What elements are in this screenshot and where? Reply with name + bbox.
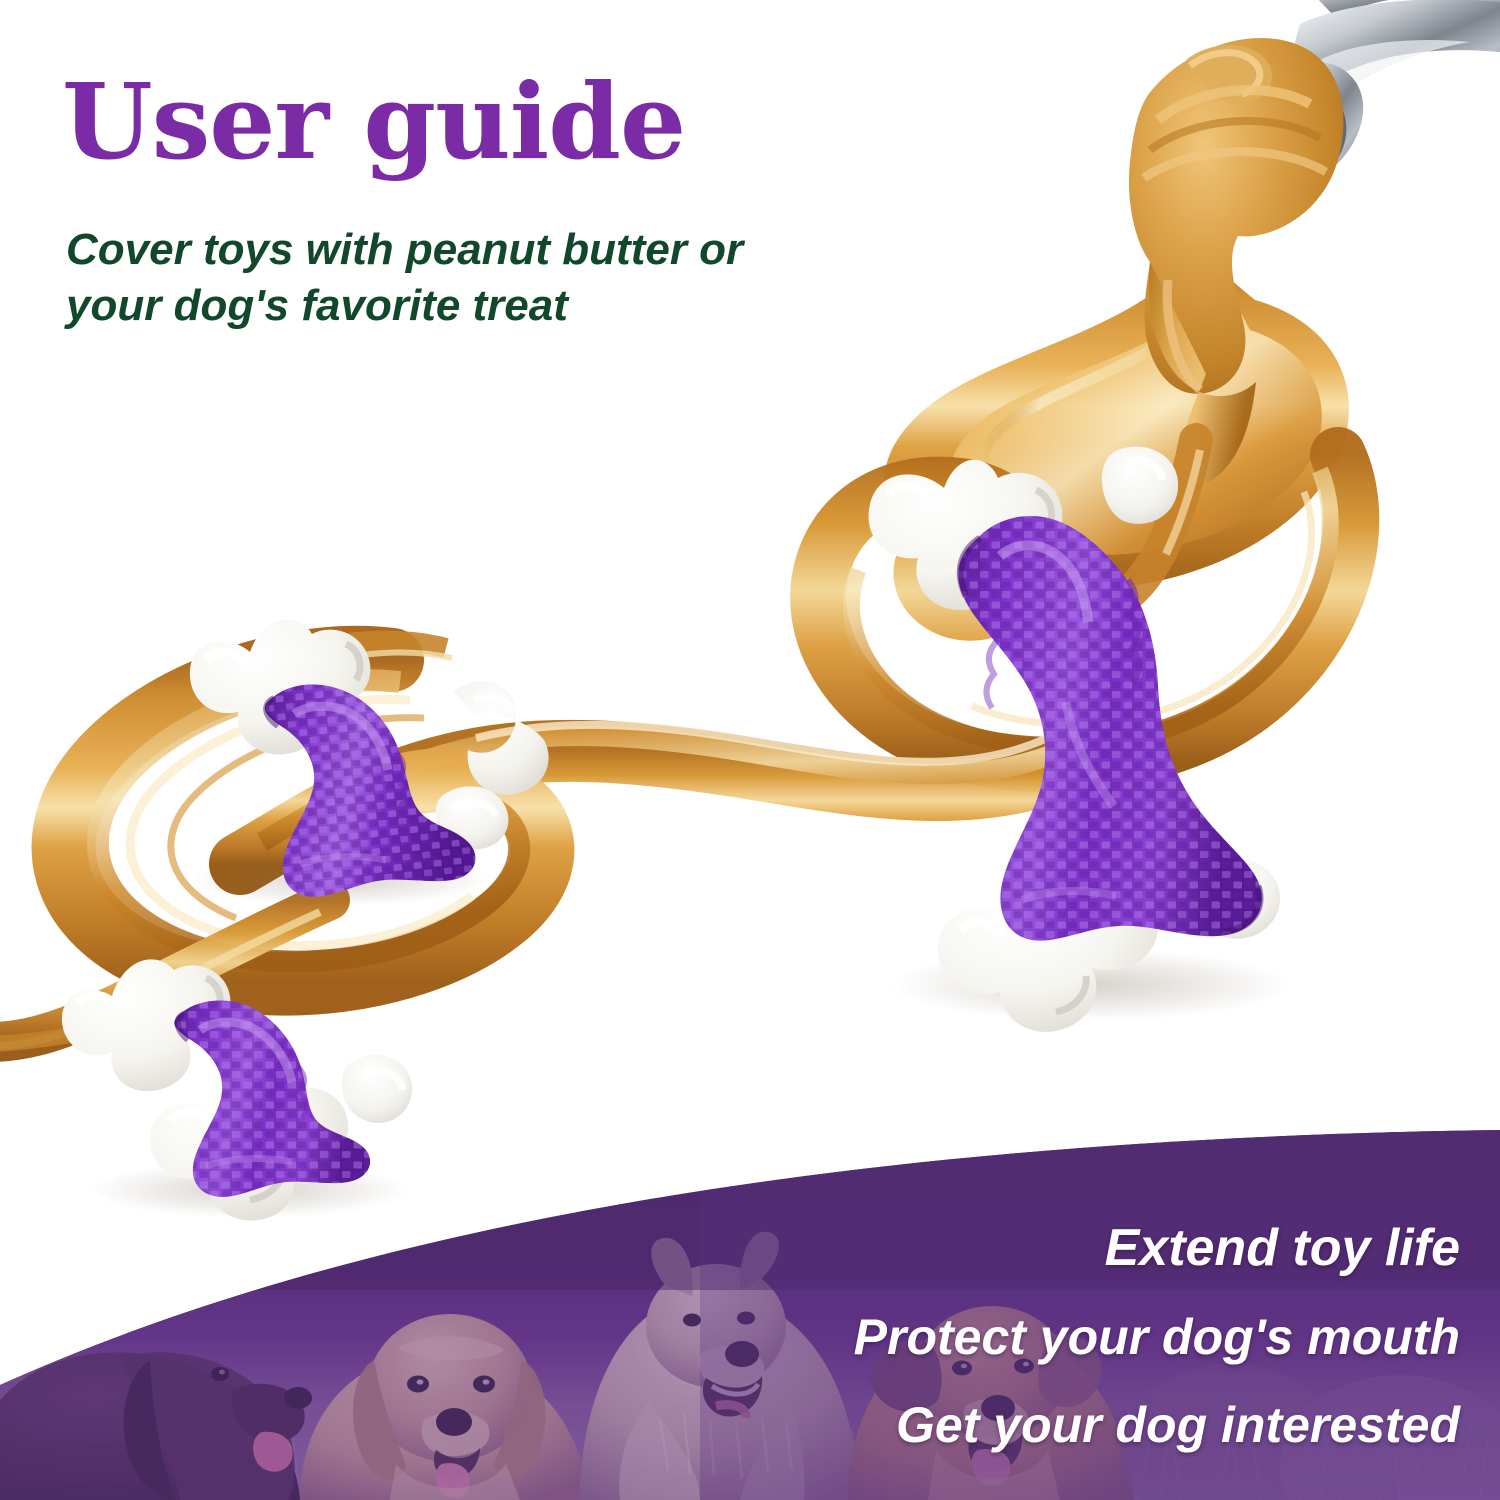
benefit-line-3: Get your dog interested [760, 1400, 1460, 1450]
benefit-line-1: Extend toy life [760, 1222, 1460, 1274]
page-subtitle: Cover toys with peanut butter or your do… [66, 222, 926, 335]
benefit-line-2: Protect your dog's mouth [760, 1312, 1460, 1362]
benefits-list: Extend toy life Protect your dog's mouth… [760, 1222, 1460, 1450]
infographic-page: User guide Cover toys with peanut butter… [0, 0, 1500, 1500]
subtitle-line-1: Cover toys with peanut butter or [66, 222, 926, 278]
bone-end-top-right [1102, 447, 1178, 524]
subtitle-line-2: your dog's favorite treat [66, 278, 926, 334]
page-title: User guide [62, 70, 685, 174]
